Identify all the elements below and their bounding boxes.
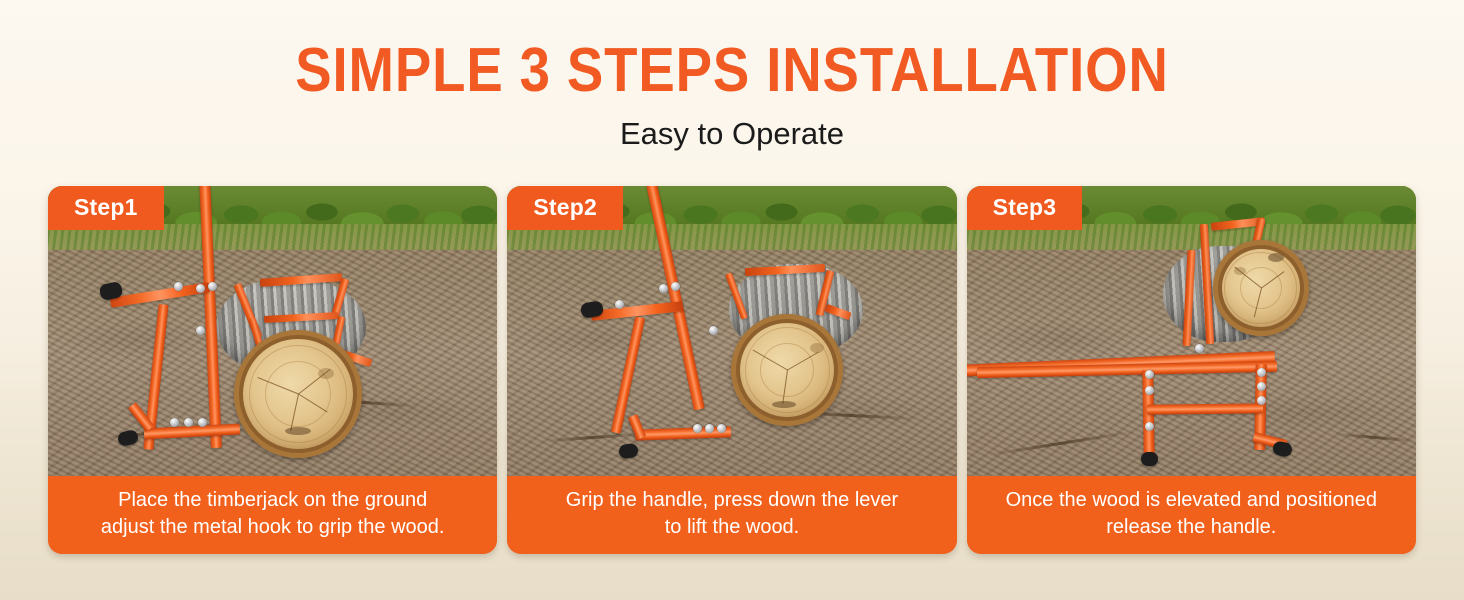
page-subtitle: Easy to Operate [0, 116, 1464, 152]
log-blotch [810, 343, 824, 353]
cross-brace [1147, 403, 1263, 414]
bolt [170, 418, 179, 427]
caption-line-1: Once the wood is elevated and positioned [1006, 489, 1377, 511]
step-badge-1: Step1 [48, 186, 164, 230]
clamp-arm [264, 312, 338, 323]
foot-cap [1271, 440, 1292, 458]
step-card-3[interactable]: Step3 Once the wood is elevated and posi… [967, 186, 1416, 554]
step-photo-2: Step2 [507, 186, 956, 476]
bolt [196, 284, 205, 293]
hook-arm [745, 264, 825, 276]
clamp-arm [1200, 224, 1214, 344]
bolt [1257, 382, 1266, 391]
step-card-2[interactable]: Step2 Grip the handle, press down the le… [507, 186, 956, 554]
step-photo-1: Step1 [48, 186, 497, 476]
frame-strut [611, 316, 645, 434]
step-photo-3: Step3 [967, 186, 1416, 476]
bolt [1257, 396, 1266, 405]
leg-front [1142, 370, 1155, 460]
caption-line-2: to lift the wood. [665, 516, 800, 538]
caption-line-2: adjust the metal hook to grip the wood. [101, 516, 445, 538]
handle-post[interactable] [644, 186, 705, 411]
step-caption-1: Place the timberjack on the ground adjus… [48, 476, 497, 554]
foot-cap [618, 443, 639, 460]
handle-post[interactable] [199, 186, 222, 448]
caption-line-1: Place the timberjack on the ground [118, 489, 427, 511]
step-caption-3: Once the wood is elevated and positioned… [967, 476, 1416, 554]
bolt [208, 282, 217, 291]
step-badge-2: Step2 [507, 186, 623, 230]
bolt [1145, 386, 1154, 395]
bolt [184, 418, 193, 427]
clamp-arm [1182, 250, 1195, 346]
bolt [1145, 422, 1154, 431]
foot-cap [117, 429, 140, 447]
bolt [174, 282, 183, 291]
hook-arm [260, 273, 342, 287]
page-title: SIMPLE 3 STEPS INSTALLATION [88, 40, 1376, 102]
bolt [709, 326, 718, 335]
bolt [1145, 370, 1154, 379]
page-header: SIMPLE 3 STEPS INSTALLATION Easy to Oper… [0, 0, 1464, 152]
steps-container: Step1 Place the timberjack on the ground… [48, 186, 1416, 554]
caption-line-2: release the handle. [1106, 516, 1276, 538]
step-badge-3: Step3 [967, 186, 1083, 230]
base-foot [628, 414, 646, 440]
base-rail [144, 423, 240, 439]
log-face-1 [234, 330, 362, 458]
bolt [196, 326, 205, 335]
hook-arm [725, 272, 748, 319]
clamp-arm [825, 304, 852, 320]
log-blotch [1234, 267, 1246, 275]
bolt [1257, 368, 1266, 377]
caption-line-1: Grip the handle, press down the lever [566, 489, 898, 511]
bolt [198, 418, 207, 427]
log-face-3 [1213, 240, 1309, 336]
step-caption-2: Grip the handle, press down the lever to… [507, 476, 956, 554]
bolt [659, 284, 668, 293]
step-card-1[interactable]: Step1 Place the timberjack on the ground… [48, 186, 497, 554]
bolt [1195, 344, 1204, 353]
foot-cap [1141, 452, 1158, 466]
log-face-2 [731, 314, 843, 426]
